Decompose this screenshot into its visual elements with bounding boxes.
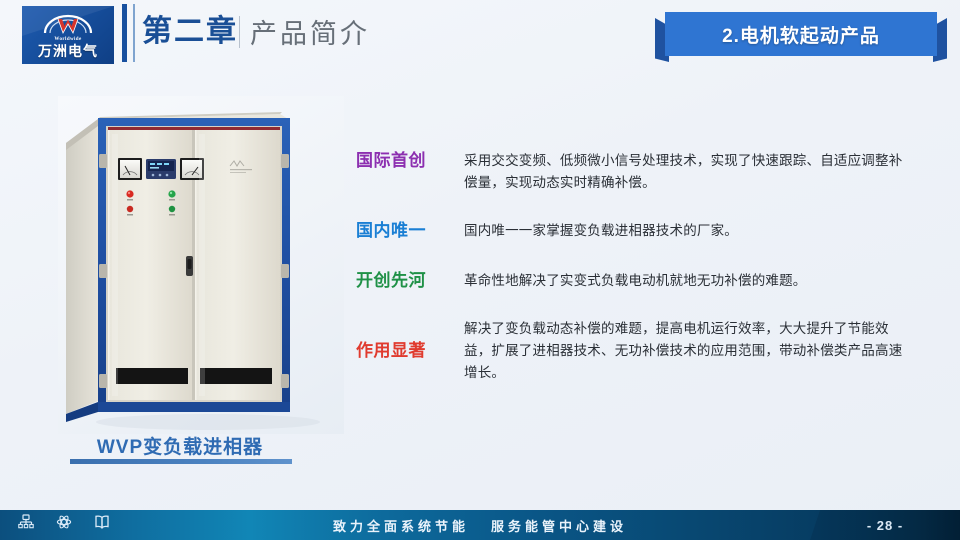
feature-row: 开创先河 革命性地解决了实变式负载电动机就地无功补偿的难题。 [356, 270, 916, 292]
header-accent-bar [122, 4, 127, 62]
feature-row: 作用显著 解决了变负载动态补偿的难题，提高电机运行效率，大大提升了节能效益，扩展… [356, 318, 916, 384]
slide-canvas: Worldwide 万洲电气 第二章 产品简介 2.电机软起动产品 [0, 0, 960, 540]
gear-icon[interactable] [56, 514, 72, 530]
ribbon-body: 2.电机软起动产品 [665, 12, 937, 56]
ribbon-label: 2.电机软起动产品 [722, 21, 880, 48]
product-photo [58, 96, 344, 434]
footer-bar: 致力全面系统节能 服务能管中心建设 - 28 - [0, 510, 960, 540]
chapter-title: 第二章 [142, 13, 238, 51]
feature-list: 国际首创 采用交交变频、低频微小信号处理技术，实现了快速跟踪、自适应调整补偿量，… [356, 150, 916, 410]
feature-row: 国内唯一 国内唯一一家掌握变负载进相器技术的厂家。 [356, 220, 916, 242]
header-accent-bar-thin [133, 4, 135, 62]
w-shield-icon [41, 14, 95, 36]
feature-label: 作用显著 [356, 318, 444, 384]
company-logo: Worldwide 万洲电气 [22, 6, 114, 64]
feature-text: 采用交交变频、低频微小信号处理技术，实现了快速跟踪、自适应调整补偿量，实现动态实… [444, 150, 916, 194]
logo-subtext: Worldwide [54, 37, 81, 42]
feature-row: 国际首创 采用交交变频、低频微小信号处理技术，实现了快速跟踪、自适应调整补偿量，… [356, 150, 916, 194]
logo-company-name: 万洲电气 [38, 44, 98, 58]
footer-icon-group [18, 514, 110, 530]
page-number: - 28 - [867, 518, 903, 533]
caption-underline [70, 459, 292, 464]
page-number-badge: - 28 - [810, 510, 960, 540]
feature-label: 开创先河 [356, 270, 444, 292]
header-divider [239, 16, 240, 48]
footer-slogan-left: 致力全面系统节能 [333, 516, 469, 535]
feature-text: 国内唯一一家掌握变负载进相器技术的厂家。 [444, 220, 916, 242]
page-subtitle: 产品简介 [250, 15, 370, 53]
feature-label: 国际首创 [356, 150, 444, 194]
book-icon[interactable] [94, 514, 110, 530]
feature-label: 国内唯一 [356, 220, 444, 242]
section-ribbon: 2.电机软起动产品 [655, 12, 947, 56]
footer-slogan-right: 服务能管中心建设 [491, 516, 627, 535]
sitemap-icon[interactable] [18, 514, 34, 530]
product-caption: WVP变负载进相器 [60, 432, 300, 459]
feature-text: 革命性地解决了实变式负载电动机就地无功补偿的难题。 [444, 270, 916, 292]
feature-text: 解决了变负载动态补偿的难题，提高电机运行效率，大大提升了节能效益，扩展了进相器技… [444, 318, 916, 384]
product-cabinet-illustration [58, 96, 344, 434]
